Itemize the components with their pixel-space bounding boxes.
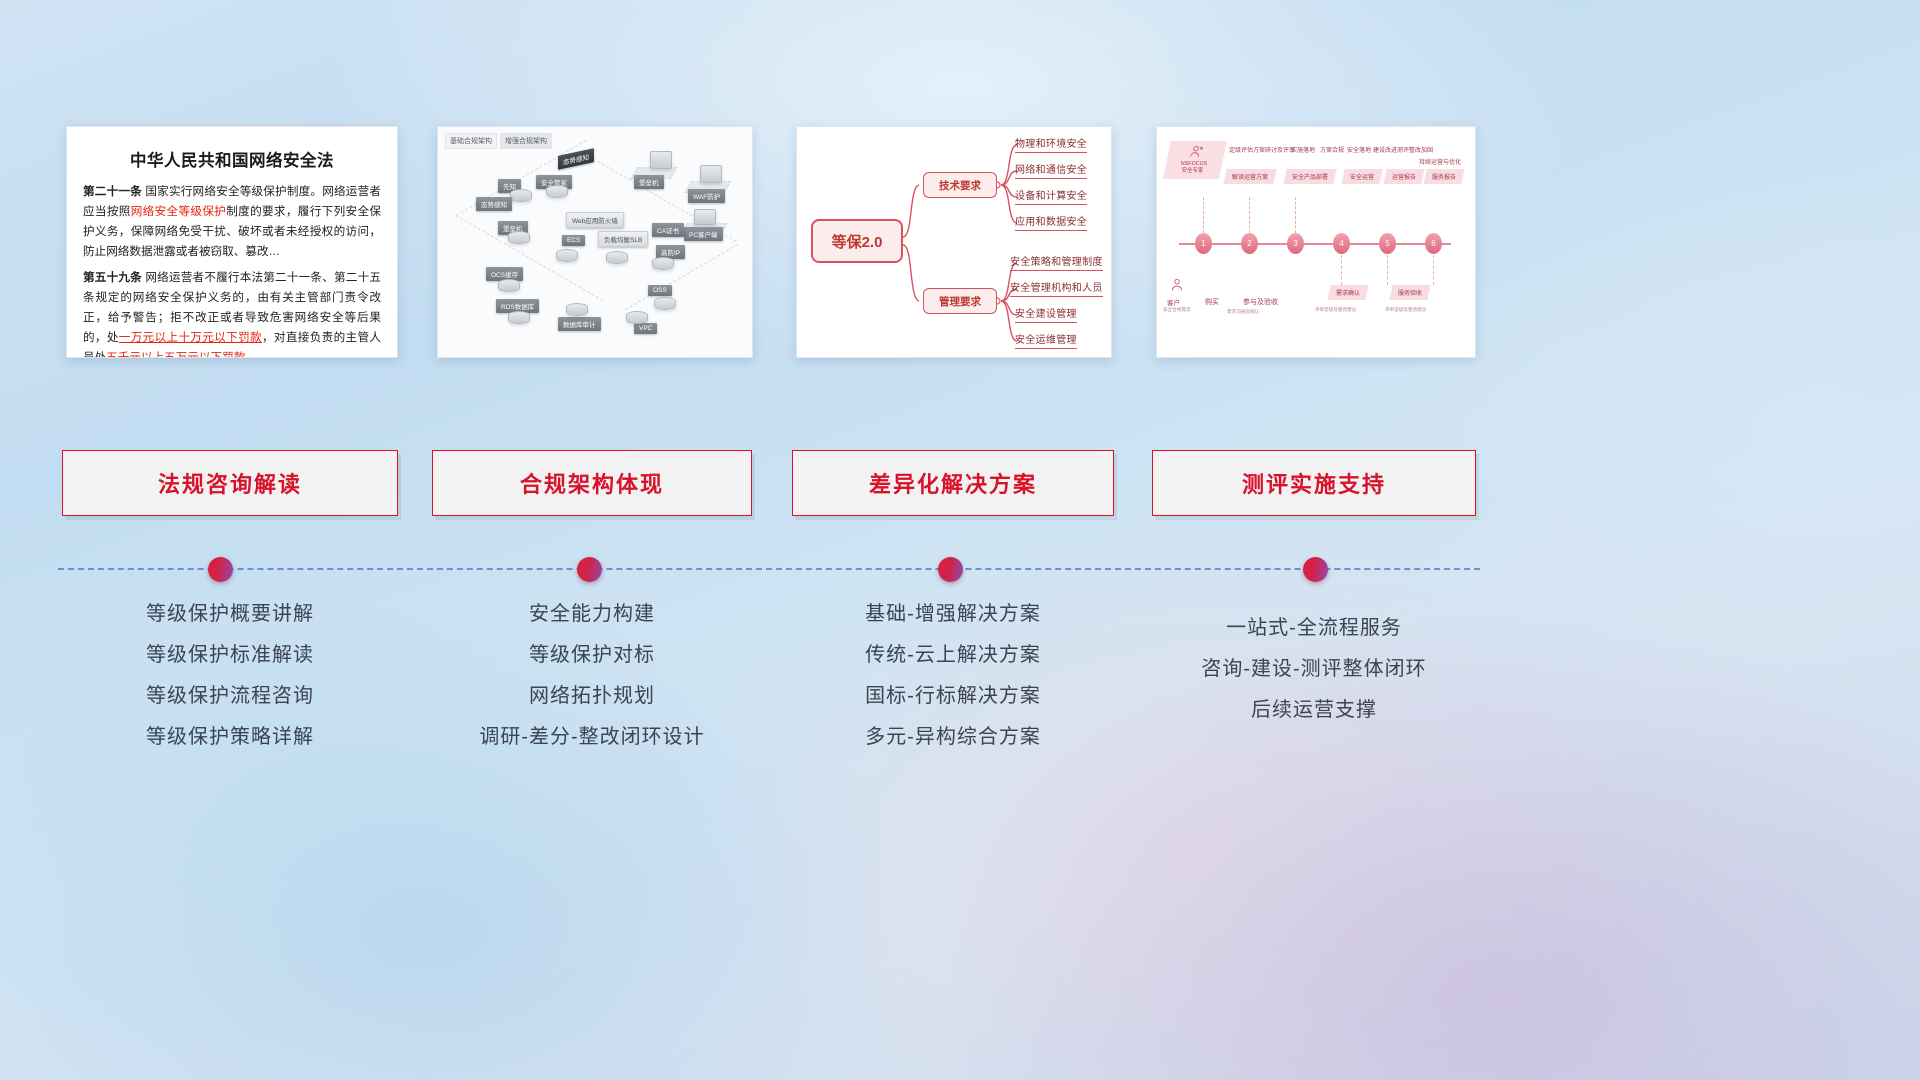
- list-item: 等级保护对标: [432, 645, 752, 665]
- nsfocus-customer-task-sub: 需求沟通及确认: [1227, 309, 1259, 315]
- arch-node-ecs: ECS: [562, 235, 585, 246]
- nsfocus-bottom-tag-1: 需求确认: [1327, 285, 1368, 300]
- arch-node-pc-client: PC客户端: [684, 227, 723, 241]
- card-cybersecurity-law[interactable]: 中华人民共和国网络安全法 第二十一条 国家实行网络安全等级保护制度。网络运营者应…: [66, 126, 398, 358]
- nsfocus-topstep-5: 建设改进: [1373, 145, 1397, 154]
- list-item: 网络拓扑规划: [432, 686, 752, 706]
- pillar-label-3: 差异化解决方案: [869, 467, 1037, 499]
- arch-node-ca-cert: CA证书: [652, 223, 684, 237]
- arch-node-oss: OSS: [648, 285, 672, 296]
- nsfocus-customer-sub: 安全合规需求: [1163, 307, 1191, 313]
- arch-cube-pc: [694, 209, 716, 225]
- mindmap-leaf-app-data: 应用和数据安全: [1015, 213, 1087, 231]
- nsfocus-topstep-6: 测评整改加固: [1397, 145, 1433, 154]
- arch-node-situation-awareness-2: 态势感知: [476, 197, 512, 211]
- article-59-fine-2: 五千元以上五万元以下罚款: [106, 351, 245, 358]
- pillar-assessment-support[interactable]: 测评实施支持: [1152, 450, 1476, 516]
- nsfocus-topstep-7: 持续运营与优化: [1419, 157, 1461, 166]
- nsfocus-dash-1: [1203, 197, 1204, 233]
- pillar-regulation-consulting[interactable]: 法规咨询解读: [62, 450, 398, 516]
- nsfocus-task-5: 服务报告: [1423, 169, 1464, 184]
- list-item: 等级保护策略详解: [62, 727, 398, 747]
- timeline: [0, 557, 1920, 587]
- detail-list-4: 一站式-全流程服务 咨询-建设-测评整体闭环 后续运营支撑: [1152, 618, 1476, 741]
- nsfocus-expert-chip: NSFOCUS 安全专家: [1163, 141, 1227, 179]
- nsfocus-customer-task-2: 参与及验收: [1243, 297, 1278, 307]
- arch-cube-vpc: [626, 311, 648, 324]
- tab-basic-architecture[interactable]: 基础合规架构: [445, 133, 497, 149]
- arch-cube-highdefense: [652, 257, 674, 270]
- mindmap-diagram: 等保2.0 技术要求 管理要求 物理和环境安全 网络和通信安全 设备和计算安全: [797, 127, 1111, 357]
- mindmap-leaf-ops-mgmt: 安全运维管理: [1015, 331, 1077, 349]
- nsfocus-dash-2: [1249, 197, 1250, 233]
- nsfocus-topstep-2: 实施落地: [1291, 145, 1315, 154]
- arch-cube-bastion-2: [508, 231, 530, 244]
- nsfocus-topstep-3: 方案合规: [1320, 145, 1344, 154]
- list-item: 等级保护概要讲解: [62, 604, 398, 624]
- architecture-tabs[interactable]: 基础合规架构 增强合规架构: [445, 133, 552, 149]
- article-59-text-c: 。: [245, 351, 257, 358]
- gallery-strip: 中华人民共和国网络安全法 第二十一条 国家实行网络安全等级保护制度。网络运营者应…: [0, 126, 1920, 368]
- timeline-dot-2[interactable]: [577, 557, 602, 582]
- nsfocus-dash-3: [1295, 197, 1296, 233]
- list-item: 基础-增强解决方案: [792, 604, 1114, 624]
- nsfocus-bottom-sub-1: 评审定级及整改建议: [1315, 307, 1356, 313]
- arch-cube-bastion: [650, 151, 672, 169]
- nsfocus-step-4: 4: [1333, 233, 1350, 254]
- detail-list-1: 等级保护概要讲解 等级保护标准解读 等级保护流程咨询 等级保护策略详解: [62, 604, 398, 768]
- mindmap-leaf-device-compute: 设备和计算安全: [1015, 187, 1087, 205]
- law-title: 中华人民共和国网络安全法: [83, 147, 381, 171]
- mindmap-leaf-build-mgmt: 安全建设管理: [1015, 305, 1077, 323]
- arch-node-bastion: 堡垒机: [634, 175, 664, 189]
- list-item: 多元-异构综合方案: [792, 727, 1114, 747]
- nsfocus-dash-6: [1433, 255, 1434, 285]
- nsfocus-topstep-1: 定级评估方案研讨及评审: [1229, 145, 1295, 154]
- pillar-row: 法规咨询解读 合规架构体现 差异化解决方案 测评实施支持: [0, 450, 1920, 518]
- arch-cube-oss: [654, 297, 676, 310]
- list-item: 等级保护流程咨询: [62, 686, 398, 706]
- arch-node-waf-protection: WAF防护: [688, 189, 725, 203]
- mindmap-branch-management: 管理要求: [923, 288, 997, 314]
- nsfocus-step-2: 2: [1241, 233, 1258, 254]
- mindmap-leaf-policy-system: 安全策略和管理制度: [1010, 253, 1103, 271]
- nsfocus-bottom-sub-2: 评审定级及整改建议: [1385, 307, 1426, 313]
- timeline-dot-3[interactable]: [938, 557, 963, 582]
- nsfocus-step-1: 1: [1195, 233, 1212, 254]
- mindmap-leaf-physical-env: 物理和环境安全: [1015, 135, 1087, 153]
- law-article-21: 第二十一条 国家实行网络安全等级保护制度。网络运营者应当按照网络安全等级保护制度…: [83, 182, 381, 262]
- list-item: 传统-云上解决方案: [792, 645, 1114, 665]
- list-item: 调研-差分-整改闭环设计: [432, 727, 752, 747]
- pillar-compliance-architecture[interactable]: 合规架构体现: [432, 450, 752, 516]
- timeline-dashed-line: [58, 568, 1480, 570]
- article-59-fine-1: 一万元以上十万元以下罚款: [119, 331, 262, 344]
- arch-node-web-firewall: Web应用防火墙: [566, 212, 624, 228]
- arch-node-vpc: VPC: [634, 323, 657, 334]
- nsfocus-customer-task-1: 购买: [1205, 297, 1219, 307]
- pillar-label-2: 合规架构体现: [520, 467, 664, 499]
- nsfocus-expert-role: 安全专家: [1168, 168, 1216, 175]
- mindmap-leaf-network-comm: 网络和通信安全: [1015, 161, 1087, 179]
- nsfocus-customer-chip: [1169, 277, 1185, 298]
- card-mindmap-dengbao[interactable]: 等保2.0 技术要求 管理要求 物理和环境安全 网络和通信安全 设备和计算安全: [796, 126, 1112, 358]
- nsfocus-timeline-diagram: NSFOCUS 安全专家 定级评估方案研讨及评审 实施落地 方案合规 安全落地 …: [1157, 127, 1475, 357]
- list-item: 安全能力构建: [432, 604, 752, 624]
- arch-cube-ecs: [556, 249, 578, 262]
- timeline-dot-4[interactable]: [1303, 557, 1328, 582]
- list-item: 咨询-建设-测评整体闭环: [1152, 659, 1476, 679]
- mindmap-root-node: 等保2.0: [811, 219, 903, 263]
- arch-node-situation-awareness: 态势感知: [558, 148, 594, 170]
- nsfocus-bottom-tag-2: 服务验收: [1389, 285, 1430, 300]
- nsfocus-task-3: 安全运营: [1341, 169, 1382, 184]
- arch-cube-butler: [546, 185, 568, 198]
- list-item: 后续运营支撑: [1152, 700, 1476, 720]
- arch-cube-ocs: [498, 279, 520, 292]
- arch-node-slb: 负载均衡SLB: [598, 231, 648, 247]
- mindmap-leaf-org-personnel: 安全管理机构和人员: [1010, 279, 1103, 297]
- nsfocus-customer-role: 客户: [1167, 297, 1180, 307]
- card-nsfocus-service-flow[interactable]: NSFOCUS 安全专家 定级评估方案研讨及评审 实施落地 方案合规 安全落地 …: [1156, 126, 1476, 358]
- expert-person-icon: [1187, 144, 1206, 160]
- nsfocus-task-4: 运营报告: [1383, 169, 1424, 184]
- detail-list-3: 基础-增强解决方案 传统-云上解决方案 国标-行标解决方案 多元-异构综合方案: [792, 604, 1114, 768]
- law-article-59: 第五十九条 网络运营者不履行本法第二十一条、第二十五条规定的网络安全保护义务的，…: [83, 268, 381, 358]
- article-21-highlight: 网络安全等级保护: [131, 205, 226, 218]
- card-compliance-architecture[interactable]: 基础合规架构 增强合规架构 态势感知 先知 态势感知 安全管家 堡垒机 WAF防…: [437, 126, 753, 358]
- arch-cube-dbaudit: [566, 303, 588, 316]
- detail-list-2: 安全能力构建 等级保护对标 网络拓扑规划 调研-差分-整改闭环设计: [432, 604, 752, 768]
- pillar-label-1: 法规咨询解读: [158, 467, 302, 499]
- nsfocus-step-6: 6: [1425, 233, 1442, 254]
- list-item: 国标-行标解决方案: [792, 686, 1114, 706]
- nsfocus-dash-4: [1341, 255, 1342, 285]
- nsfocus-task-2: 安全产品部署: [1283, 169, 1336, 184]
- mindmap-branch-technical: 技术要求: [923, 172, 997, 198]
- list-item: 等级保护标准解读: [62, 645, 398, 665]
- timeline-dot-1[interactable]: [208, 557, 233, 582]
- nsfocus-step-3: 3: [1287, 233, 1304, 254]
- customer-person-icon: [1169, 277, 1185, 293]
- nsfocus-task-1: 解读运营方案: [1223, 169, 1276, 184]
- arch-node-db-audit: 数据库审计: [558, 317, 601, 331]
- list-item: 一站式-全流程服务: [1152, 618, 1476, 638]
- tab-enhanced-architecture[interactable]: 增强合规架构: [500, 133, 552, 149]
- detail-lists: 等级保护概要讲解 等级保护标准解读 等级保护流程咨询 等级保护策略详解 安全能力…: [0, 604, 1920, 804]
- nsfocus-rail: [1179, 243, 1451, 245]
- arch-cube-waf: [700, 165, 722, 183]
- arch-cube-rds: [508, 311, 530, 324]
- architecture-diagram: 基础合规架构 增强合规架构 态势感知 先知 态势感知 安全管家 堡垒机 WAF防…: [438, 127, 752, 357]
- nsfocus-topstep-4: 安全落地: [1347, 145, 1371, 154]
- article-21-label: 第二十一条: [83, 185, 142, 198]
- arch-cube-slb: [606, 251, 628, 264]
- arch-cube-xianzhi: [510, 189, 532, 202]
- nsfocus-step-5: 5: [1379, 233, 1396, 254]
- article-59-label: 第五十九条: [83, 271, 142, 284]
- nsfocus-dash-5: [1387, 255, 1388, 285]
- pillar-differentiated-solution[interactable]: 差异化解决方案: [792, 450, 1114, 516]
- pillar-label-4: 测评实施支持: [1242, 467, 1386, 499]
